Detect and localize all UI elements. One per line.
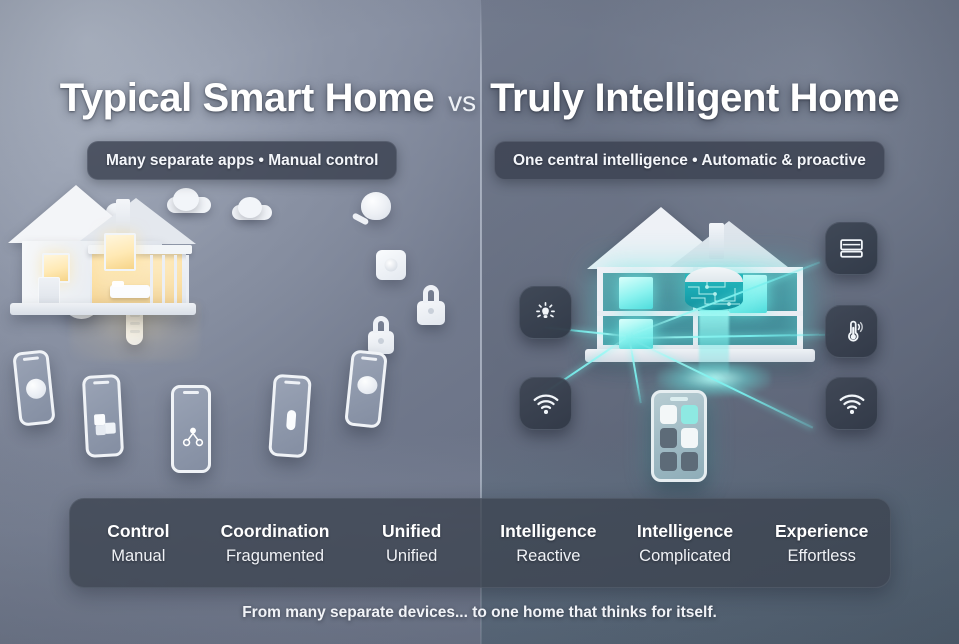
- padlock-icon: [417, 301, 445, 325]
- title-left: Typical Smart Home: [60, 76, 434, 121]
- window-blinds-badge[interactable]: [825, 222, 878, 275]
- smartphone-icon: [344, 349, 388, 428]
- comparison-value: Reactive: [484, 544, 613, 569]
- left-illustration: [0, 185, 481, 495]
- smart-plug-icon: [376, 250, 406, 280]
- comparison-key: Control: [74, 518, 203, 544]
- phone-door-lock-glyph: [286, 410, 296, 431]
- phone-notch: [361, 356, 377, 361]
- smartphone-icon: [82, 374, 124, 458]
- infographic-canvas: Typical Smart Home vs Truly Intelligent …: [0, 0, 959, 644]
- comparison-column: Experience Effortless: [753, 518, 890, 569]
- thermometer-badge[interactable]: [825, 305, 878, 358]
- phone-cubes-glyph: [95, 425, 106, 436]
- house-chimney: [709, 223, 724, 259]
- hub-top-cap: [685, 267, 743, 282]
- window-blinds-icon: [838, 237, 865, 261]
- phone-speaker-glyph: [357, 375, 379, 395]
- phone-tile[interactable]: [681, 428, 698, 447]
- comparison-value: Manual: [74, 544, 203, 569]
- wifi-badge[interactable]: [519, 377, 572, 430]
- thermometer-icon: [839, 319, 865, 345]
- phone-speaker-glyph: [25, 378, 47, 400]
- subtitle-pill-right: One central intelligence • Automatic & p…: [494, 141, 885, 180]
- comparison-column: Intelligence Reactive: [480, 518, 617, 569]
- title-row: Typical Smart Home vs Truly Intelligent …: [0, 76, 959, 121]
- comparison-key: Unified: [347, 518, 476, 544]
- comparison-value: Fragumented: [211, 544, 340, 569]
- phone-notch: [670, 397, 688, 401]
- comparison-key: Intelligence: [484, 518, 613, 544]
- phone-notch: [183, 391, 199, 394]
- subtitle-pill-left: Many separate apps • Manual control: [87, 141, 397, 180]
- house-base-platform: [10, 303, 196, 315]
- right-illustration: [481, 185, 959, 495]
- footer-caption: From many separate devices... to one hom…: [0, 604, 959, 622]
- comparison-value: Effortless: [757, 544, 886, 569]
- phone-notch: [23, 356, 39, 361]
- security-camera-icon: [361, 192, 391, 220]
- padlock-keyhole: [378, 338, 384, 344]
- porch-post: [186, 255, 189, 305]
- phone-cubes-glyph: [104, 422, 116, 434]
- comparison-key: Experience: [757, 518, 886, 544]
- smartphone-icon: [12, 349, 56, 426]
- phone-tile[interactable]: [660, 405, 677, 424]
- comparison-bar: Control Manual Coordination Fragumented …: [69, 498, 891, 588]
- house-roof-right: [76, 198, 196, 244]
- wifi-badge[interactable]: [825, 377, 878, 430]
- phone-tile[interactable]: [660, 428, 677, 447]
- wifi-icon: [532, 393, 560, 415]
- comparison-column: Coordination Fragumented: [207, 518, 344, 569]
- title-right: Truly Intelligent Home: [490, 76, 899, 121]
- porch-post: [174, 255, 177, 305]
- phone-tile[interactable]: [660, 452, 677, 471]
- light-bulb-icon: [532, 299, 559, 326]
- central-intelligence-hub: [685, 267, 743, 313]
- comparison-column: Control Manual: [70, 518, 207, 569]
- smartphone-control-panel[interactable]: [651, 390, 707, 482]
- light-bulb-badge[interactable]: [519, 286, 572, 339]
- comparison-key: Intelligence: [621, 518, 750, 544]
- smartphone-icon: [171, 385, 211, 473]
- padlock-shackle: [373, 316, 389, 333]
- white-house-illustration: [0, 185, 220, 360]
- house-chimney: [116, 199, 130, 233]
- teal-house-illustration: [581, 207, 821, 397]
- house-interior-bed: [110, 285, 150, 298]
- phone-notch: [284, 381, 300, 385]
- padlock-shackle: [423, 285, 439, 303]
- padlock-keyhole: [428, 308, 434, 314]
- phone-notch: [93, 381, 109, 385]
- phone-tile[interactable]: [681, 405, 698, 424]
- comparison-value: Unified: [347, 544, 476, 569]
- title-vs: vs: [434, 86, 490, 118]
- phone-tile[interactable]: [681, 452, 698, 471]
- porch-post: [162, 255, 165, 305]
- smartphone-icon: [268, 374, 312, 458]
- wifi-icon: [838, 393, 866, 415]
- comparison-column: Unified Unified: [343, 518, 480, 569]
- comparison-value: Complicated: [621, 544, 750, 569]
- house-roof-right: [665, 221, 793, 271]
- cloud-icon: [238, 197, 262, 218]
- porch-post: [150, 255, 153, 305]
- comparison-key: Coordination: [211, 518, 340, 544]
- phone-share-glyph: [182, 426, 204, 448]
- house-window: [104, 233, 136, 271]
- house-window: [619, 277, 653, 309]
- comparison-column: Intelligence Complicated: [617, 518, 754, 569]
